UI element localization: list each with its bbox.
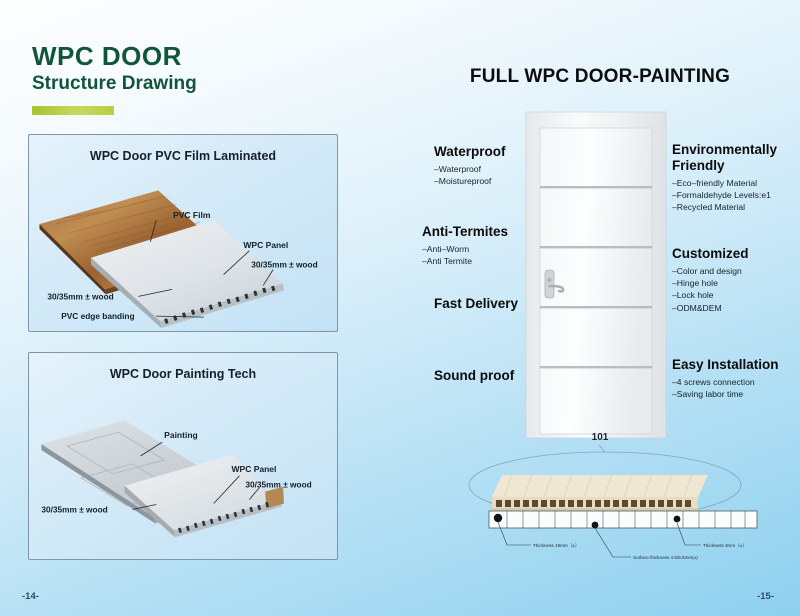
cross-section-svg: Thickness 19mm（±） Surface thickness 4.5/… <box>485 505 775 567</box>
feature-item: –4 screws connection <box>672 376 779 388</box>
feature-items: –Color and design –Hinge hole –Lock hole… <box>672 265 749 314</box>
feature-heading: Waterproof <box>434 144 506 160</box>
label-painting: Painting <box>164 430 198 440</box>
door-model-number: 101 <box>570 432 630 443</box>
page-title: WPC DOOR <box>32 42 197 71</box>
feature-items: –Waterproof –Moistureproof <box>434 163 506 187</box>
feature-heading: Sound proof <box>434 368 514 384</box>
section-outline <box>489 511 757 528</box>
feature-item: –Eco–friendly Material <box>672 177 800 189</box>
pvc-laminate-illustration: PVC Film WPC Panel 30/35mm ± wood 30/35m… <box>29 135 337 331</box>
feature-item: –Saving labor time <box>672 388 779 400</box>
diagram-painting-tech: WPC Door Painting Tech <box>28 352 338 560</box>
feature-items: –Eco–friendly Material –Formaldehyde Lev… <box>672 177 800 214</box>
diagram-pvc-film-laminated: WPC Door PVC Film Laminated <box>28 134 338 332</box>
label-wpc-panel-2: WPC Panel <box>232 464 277 474</box>
page-subtitle: Structure Drawing <box>32 72 197 97</box>
feature-fast-delivery: Fast Delivery <box>434 296 518 312</box>
feature-customized: Customized –Color and design –Hinge hole… <box>672 246 749 314</box>
feature-item: –Anti–Worm <box>422 243 508 255</box>
feature-easy-installation: Easy Installation –4 screws connection –… <box>672 357 779 400</box>
feature-item: –Hinge hole <box>672 277 749 289</box>
door-leaf <box>540 128 652 434</box>
feature-item: –Color and design <box>672 265 749 277</box>
label-thickness-right-2: 30/35mm ± wood <box>245 480 311 490</box>
feature-items: –4 screws connection –Saving labor time <box>672 376 779 400</box>
feature-sound-proof: Sound proof <box>434 368 514 384</box>
right-page: FULL WPC DOOR-PAINTING Waterproof –Water… <box>400 0 800 616</box>
feature-items: –Anti–Worm –Anti Termite <box>422 243 508 267</box>
left-title-block: WPC DOOR Structure Drawing <box>32 42 197 97</box>
feature-heading: Fast Delivery <box>434 296 518 312</box>
accent-bar <box>32 106 114 115</box>
label-pvc-film: PVC Film <box>173 210 211 220</box>
painting-tech-illustration: Painting WPC Panel 30/35mm ± wood 30/35m… <box>29 353 337 559</box>
feature-heading: Environmentally Friendly <box>672 142 800 174</box>
right-page-title: FULL WPC DOOR-PAINTING <box>400 66 800 88</box>
feature-heading: Easy Installation <box>672 357 779 373</box>
feature-waterproof: Waterproof –Waterproof –Moistureproof <box>434 144 506 187</box>
label-thickness-left: 30/35mm ± wood <box>47 291 113 301</box>
magnifier-leader <box>570 445 605 452</box>
feature-anti-termites: Anti-Termites –Anti–Worm –Anti Termite <box>422 224 508 267</box>
callout-dot-surface <box>592 522 599 529</box>
feature-item: –Formaldehyde Levels:e1 <box>672 189 800 201</box>
label-thickness-left-2: 30/35mm ± wood <box>41 504 107 514</box>
label-thickness-total: Thickness 19mm（±） <box>533 543 579 548</box>
door-svg <box>518 110 678 440</box>
page-number-left: -14- <box>22 591 39 602</box>
brochure-page: WPC DOOR Structure Drawing WPC Door PVC … <box>0 0 800 616</box>
label-wpc-panel: WPC Panel <box>243 240 288 250</box>
feature-item: –Lock hole <box>672 289 749 301</box>
label-thickness-right: 30/35mm ± wood <box>251 260 317 270</box>
left-page: WPC DOOR Structure Drawing WPC Door PVC … <box>0 0 400 616</box>
feature-item: –Waterproof <box>434 163 506 175</box>
label-pvc-edge-banding: PVC edge banding <box>61 311 134 321</box>
feature-environmentally-friendly: Environmentally Friendly –Eco–friendly M… <box>672 142 800 213</box>
door-illustration <box>518 110 678 440</box>
feature-item: –ODM&DEM <box>672 302 749 314</box>
callout-dot-skin <box>674 516 681 523</box>
callout-dot-total <box>494 514 502 522</box>
feature-item: –Anti Termite <box>422 255 508 267</box>
cross-section-diagram: Thickness 19mm（±） Surface thickness 4.5/… <box>485 505 775 567</box>
feature-item: –Recycled Material <box>672 201 800 213</box>
page-number-right: -15- <box>757 591 774 602</box>
feature-item: –Moistureproof <box>434 175 506 187</box>
feature-heading: Customized <box>672 246 749 262</box>
feature-heading: Anti-Termites <box>422 224 508 240</box>
label-thickness-skin: Thickness 3mm（±） <box>703 543 747 548</box>
label-surface-thickness: Surface thickness 4.5/6.5mm(±) <box>633 555 698 560</box>
